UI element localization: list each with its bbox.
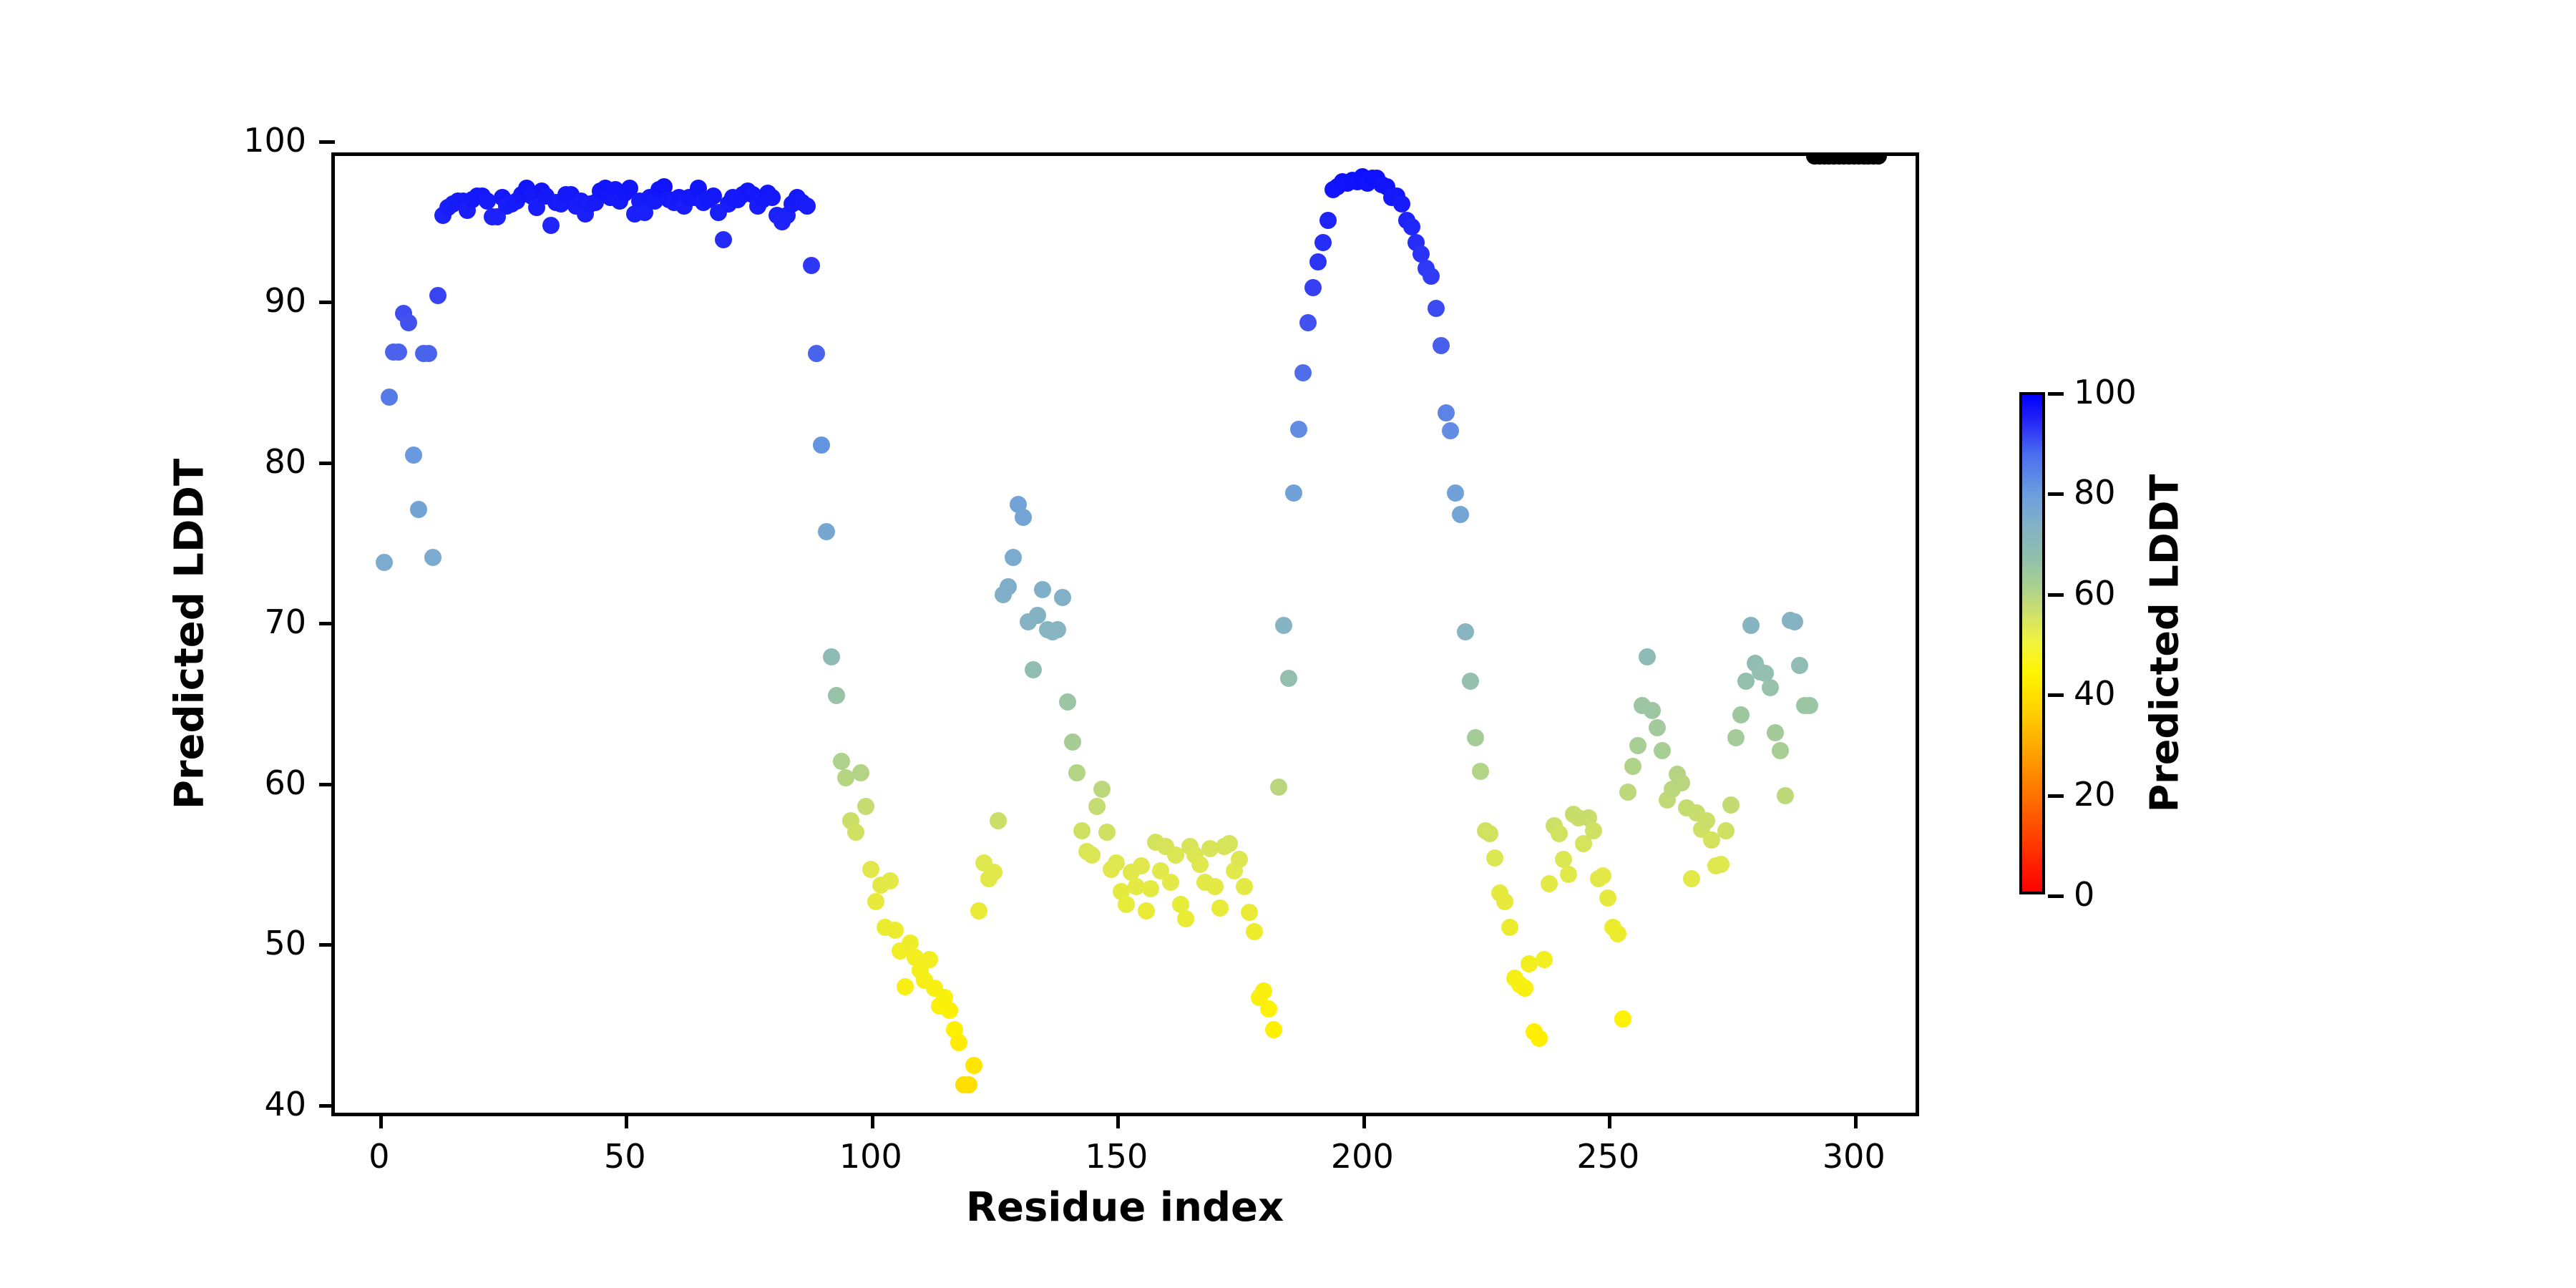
scatter-point: [1206, 878, 1224, 895]
scatter-point: [1428, 300, 1445, 317]
scatter-point: [1403, 218, 1420, 235]
x-tick-label: 200: [1331, 1137, 1394, 1176]
scatter-point: [1516, 980, 1533, 997]
scatter-point: [1712, 856, 1729, 873]
scatter-point: [1290, 421, 1307, 438]
scatter-point: [1068, 764, 1085, 781]
y-axis-title: Predicted LDDT: [167, 459, 213, 809]
scatter-point: [1614, 1010, 1631, 1028]
y-tick-label: 70: [264, 602, 306, 641]
scatter-point: [1737, 673, 1755, 690]
scatter-point: [1447, 484, 1464, 502]
colorbar-tick-mark: [2048, 392, 2064, 396]
scatter-point: [1177, 910, 1194, 927]
y-tick-mark: [319, 783, 335, 786]
scatter-point: [1191, 856, 1209, 873]
scatter-point: [1619, 784, 1636, 801]
scatter-point: [1703, 831, 1720, 849]
y-tick-label: 40: [264, 1085, 306, 1123]
x-tick-label: 100: [839, 1137, 902, 1176]
scatter-point: [1496, 893, 1513, 910]
scatter-point: [410, 501, 427, 518]
scatter-point: [400, 314, 417, 331]
scatter-point: [847, 824, 864, 841]
scatter-point: [960, 1076, 977, 1093]
scatter-point: [1585, 822, 1602, 839]
scatter-point: [1064, 733, 1081, 751]
scatter-point: [1791, 657, 1808, 674]
scatter-point: [1722, 796, 1740, 814]
scatter-point: [1025, 661, 1042, 678]
colorbar-tick-label: 0: [2074, 875, 2094, 914]
scatter-point: [1732, 706, 1750, 723]
colorbar-tick-label: 40: [2074, 674, 2116, 713]
scatter-point: [1093, 781, 1111, 798]
scatter-point: [424, 549, 441, 566]
scatter-point: [1767, 724, 1784, 741]
scatter-point: [1304, 279, 1322, 296]
scatter-point: [715, 231, 732, 248]
scatter-point: [1000, 578, 1017, 595]
scatter-point: [1594, 867, 1611, 884]
scatter-point: [1034, 581, 1051, 598]
scatter-point: [1231, 851, 1248, 868]
scatter-point: [818, 523, 835, 540]
scatter-point: [1073, 822, 1091, 839]
scatter-point: [803, 257, 820, 274]
x-tick-mark: [1608, 1113, 1611, 1128]
scatter-point: [1280, 670, 1297, 687]
scatter-point: [1442, 422, 1459, 439]
colorbar-gradient: [2019, 392, 2045, 894]
scatter-point: [1452, 506, 1469, 523]
scatter-point: [1221, 835, 1238, 852]
scatter-point: [1531, 1030, 1548, 1047]
scatter-point: [1801, 697, 1818, 714]
scatter-point: [1683, 870, 1700, 887]
scatter-point: [1319, 212, 1337, 229]
scatter-point: [1275, 617, 1292, 634]
scatter-point: [1260, 1000, 1277, 1018]
scatter-point: [828, 687, 845, 704]
scatter-point: [1015, 509, 1032, 526]
scatter-point: [1536, 951, 1553, 968]
scatter-point: [1560, 866, 1577, 883]
scatter-point: [882, 872, 899, 889]
scatter-point: [1241, 904, 1258, 921]
scatter-point: [1138, 902, 1155, 919]
colorbar-tick-label: 20: [2074, 775, 2116, 814]
scatter-point: [429, 287, 447, 304]
scatter-point: [1786, 613, 1803, 630]
y-tick-label: 60: [264, 763, 306, 802]
scatter-point: [763, 189, 781, 206]
colorbar-tick-label: 80: [2074, 473, 2116, 512]
x-tick-label: 0: [369, 1137, 389, 1176]
scatter-point: [1438, 404, 1455, 421]
y-tick-label: 80: [264, 442, 306, 481]
scatter-point: [1299, 314, 1317, 331]
scatter-point: [1236, 878, 1253, 895]
scatter-point: [941, 1002, 958, 1019]
y-tick-mark: [319, 622, 335, 625]
scatter-point: [1624, 758, 1641, 775]
scatter-point: [1462, 673, 1479, 690]
scatter-point: [1472, 763, 1489, 780]
scatter-point: [1133, 857, 1150, 874]
x-tick-mark: [1116, 1113, 1120, 1128]
scatter-point: [1772, 742, 1789, 759]
y-tick-mark: [319, 462, 335, 465]
x-tick-mark: [1362, 1113, 1366, 1128]
y-tick-mark: [319, 1104, 335, 1108]
scatter-point: [1059, 693, 1076, 711]
scatter-point: [542, 217, 560, 234]
y-tick-label: 100: [243, 121, 306, 160]
scatter-point: [965, 1057, 982, 1074]
scatter-point: [1609, 925, 1626, 942]
scatter-point: [1644, 702, 1661, 719]
y-tick-label: 50: [264, 924, 306, 962]
x-tick-mark: [379, 1113, 383, 1128]
scatter-point: [1255, 982, 1272, 1000]
scatter-point: [381, 389, 398, 406]
scatter-point: [1501, 919, 1518, 936]
colorbar-title: Predicted LDDT: [2142, 474, 2187, 813]
scatter-point: [867, 893, 884, 910]
scatter-point: [1481, 825, 1498, 842]
scatter-point: [1486, 849, 1503, 867]
scatter-point: [1551, 825, 1568, 842]
scatter-point: [813, 436, 830, 454]
colorbar-tick-mark: [2048, 593, 2064, 597]
scatter-point: [1599, 889, 1616, 907]
scatter-point: [1639, 648, 1656, 665]
scatter-point: [799, 197, 816, 215]
scatter-point: [1049, 621, 1066, 638]
x-axis-title: Residue index: [966, 1184, 1284, 1231]
scatter-point: [1698, 812, 1715, 829]
scatter-point: [857, 798, 874, 815]
scatter-point: [376, 554, 393, 571]
colorbar-tick-mark: [2048, 492, 2064, 496]
scatter-point: [990, 812, 1007, 829]
x-tick-label: 150: [1085, 1137, 1148, 1176]
scatter-point: [405, 447, 422, 464]
scatter-point: [1393, 195, 1410, 213]
scatter-point: [950, 1034, 967, 1051]
scatter-point: [1777, 787, 1794, 804]
scatter-point: [862, 861, 879, 878]
x-tick-label: 300: [1823, 1137, 1885, 1176]
scatter-point: [1649, 719, 1666, 736]
colorbar-tick-mark: [2048, 693, 2064, 697]
scatter-point: [1142, 880, 1159, 897]
scatter-point: [1629, 737, 1646, 754]
x-tick-label: 50: [604, 1137, 646, 1176]
scatter-point: [808, 345, 825, 362]
scatter-point: [1162, 874, 1179, 891]
colorbar-tick-label: 100: [2074, 373, 2137, 411]
scatter-point: [852, 764, 869, 781]
x-tick-mark: [1854, 1113, 1858, 1128]
y-tick-mark: [319, 301, 335, 304]
scatter-point: [1423, 268, 1440, 285]
scatter-point: [1098, 824, 1116, 841]
scatter-point: [1265, 1021, 1282, 1038]
scatter-plot-area[interactable]: [335, 156, 1916, 1113]
scatter-point: [1314, 234, 1332, 251]
colorbar-tick-mark: [2048, 794, 2064, 798]
scatter-point: [887, 922, 904, 939]
scatter-point: [1285, 484, 1302, 502]
figure-canvas: 405060708090100 050100150200250300 Resid…: [0, 0, 2576, 1288]
scatter-point: [1467, 729, 1484, 746]
scatter-point: [1118, 896, 1135, 913]
scatter-point: [1054, 589, 1071, 606]
scatter-point: [1083, 847, 1101, 864]
y-tick-mark: [319, 943, 335, 947]
scatter-point: [970, 902, 987, 919]
scatter-point: [1088, 798, 1106, 815]
scatter-point: [1673, 774, 1690, 791]
scatter-point: [1309, 253, 1327, 270]
colorbar-tick-label: 60: [2074, 574, 2116, 613]
scatter-point: [1762, 679, 1779, 696]
x-tick-label: 250: [1576, 1137, 1639, 1176]
scatter-point: [1294, 364, 1312, 381]
plot-axes: 405060708090100 050100150200250300: [331, 152, 1919, 1116]
scatter-point: [1541, 875, 1558, 892]
x-tick-mark: [871, 1113, 874, 1128]
x-tick-mark: [625, 1113, 628, 1128]
scatter-point: [1742, 617, 1760, 634]
scatter-point: [1654, 742, 1671, 759]
scatter-point: [1246, 923, 1263, 940]
scatter-point: [390, 343, 407, 361]
y-tick-mark: [319, 140, 335, 144]
scatter-point: [1727, 729, 1745, 746]
scatter-point: [1005, 549, 1022, 566]
scatter-point: [1270, 779, 1287, 796]
scatter-point: [833, 753, 850, 770]
scatter-point: [1433, 337, 1450, 354]
scatter-point: [921, 951, 938, 968]
scatter-point: [823, 648, 840, 665]
scatter-point: [420, 345, 437, 362]
scatter-point: [1211, 899, 1229, 917]
scatter-point: [1457, 623, 1474, 640]
scatter-point: [985, 864, 1002, 881]
scatter-point: [1717, 822, 1735, 839]
y-tick-label: 90: [264, 281, 306, 320]
colorbar-tick-mark: [2048, 894, 2064, 898]
scatter-point: [897, 978, 914, 995]
